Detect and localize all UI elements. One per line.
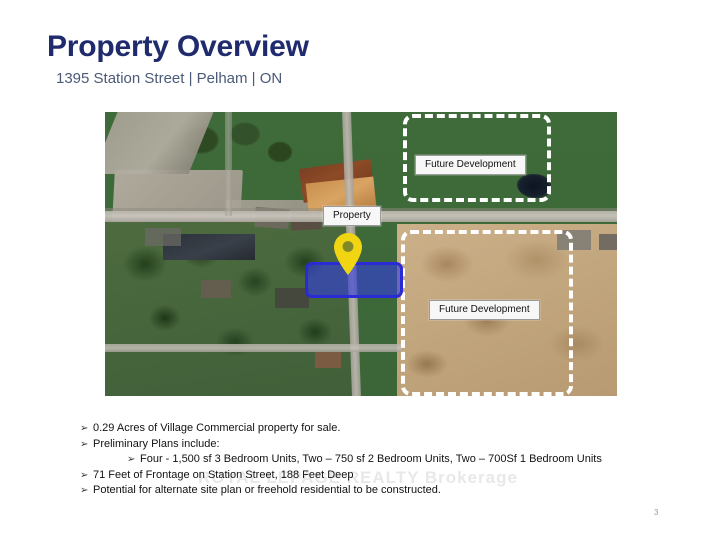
bullet-item: ➢Four - 1,500 sf 3 Bedroom Units, Two – … [80,452,640,468]
map-label-future-development-top: Future Development [415,155,526,175]
page-title: Property Overview [47,30,309,64]
bullet-arrow-icon: ➢ [127,452,140,467]
bullet-item: ➢Potential for alternate site plan or fr… [80,483,640,499]
bullet-text: Preliminary Plans include: [93,437,220,453]
bullet-list: ➢0.29 Acres of Village Commercial proper… [80,421,640,499]
bullet-arrow-icon: ➢ [80,421,93,436]
page-number: 3 [654,508,658,517]
bullet-arrow-icon: ➢ [80,437,93,452]
bullet-item: ➢0.29 Acres of Village Commercial proper… [80,421,640,437]
aerial-map[interactable]: Future Development Property Future Devel… [105,112,617,396]
bullet-text: 0.29 Acres of Village Commercial propert… [93,421,340,437]
map-label-property: Property [323,206,381,226]
bullet-arrow-icon: ➢ [80,483,93,498]
map-pin-icon[interactable] [333,232,363,276]
bullet-text: Four - 1,500 sf 3 Bedroom Units, Two – 7… [140,452,602,468]
bullet-arrow-icon: ➢ [80,468,93,483]
page-subtitle: 1395 Station Street | Pelham | ON [56,70,282,87]
map-label-future-development-bottom: Future Development [429,300,540,320]
bullet-text: Potential for alternate site plan or fre… [93,483,441,499]
bullet-item: ➢71 Feet of Frontage on Station Street, … [80,468,640,484]
bullet-item: ➢Preliminary Plans include: [80,437,640,453]
bullet-text: 71 Feet of Frontage on Station Street, 1… [93,468,354,484]
